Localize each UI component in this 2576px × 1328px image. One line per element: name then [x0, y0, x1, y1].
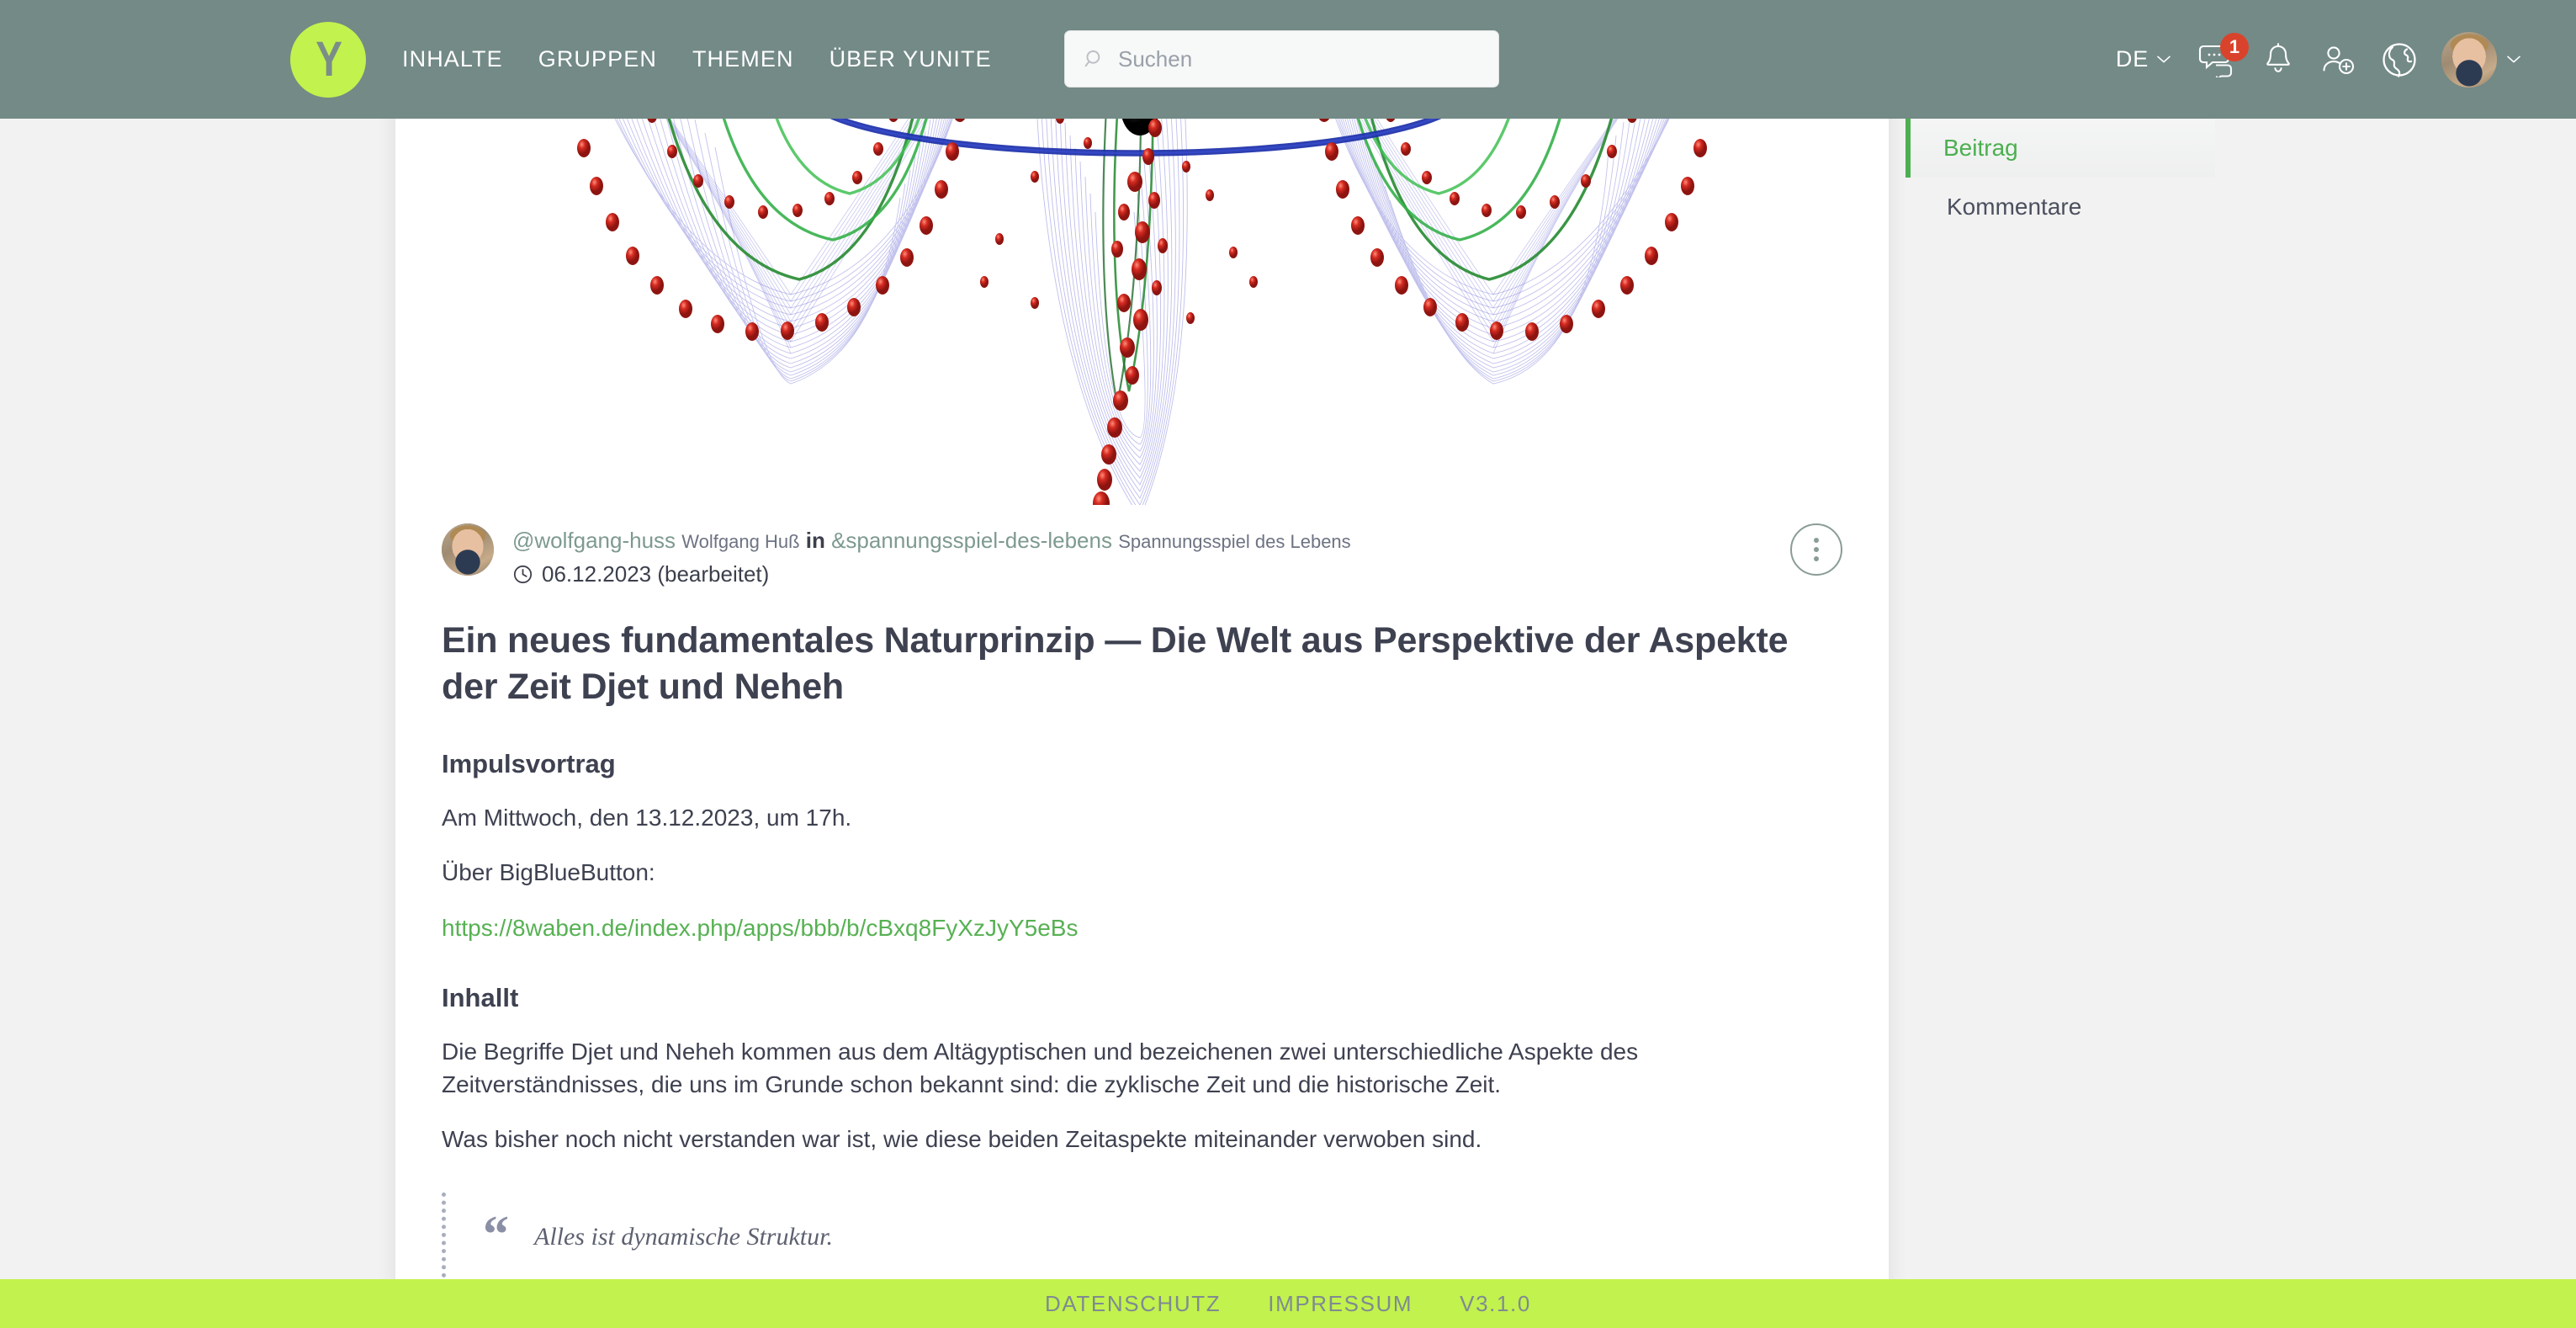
user-menu[interactable]: [2430, 32, 2526, 88]
footer-version: V3.1.0: [1460, 1291, 1531, 1317]
sidebar-item-label: Beitrag: [1943, 135, 2018, 162]
avatar-face: [2441, 32, 2497, 88]
sidebar-item-label: Kommentare: [1947, 194, 2081, 220]
language-label: DE: [2116, 46, 2149, 72]
post-date-row: 06.12.2023 (bearbeitet): [512, 561, 1351, 587]
logo-glyph: Y: [315, 35, 341, 84]
bigbluebutton-link[interactable]: https://8waben.de/index.php/apps/bbb/b/c…: [442, 915, 1078, 941]
kebab-dot: [1814, 556, 1819, 561]
nav-inhalte[interactable]: INHALTE: [402, 46, 521, 72]
footer-bar: DATENSCHUTZ IMPRESSUM V3.1.0: [0, 1279, 2576, 1328]
paragraph-inhalt-2: Was bisher noch nicht verstanden war ist…: [442, 1123, 1842, 1155]
globe-icon: [2379, 40, 2420, 80]
section-heading-inhalt: Inhallt: [442, 983, 1842, 1013]
footer-link-impressum[interactable]: IMPRESSUM: [1268, 1291, 1413, 1317]
author-handle-link[interactable]: @wolfgang-huss: [512, 528, 676, 553]
sidebar-item-beitrag[interactable]: Beitrag: [1905, 119, 2215, 178]
section-heading-impulsvortrag: Impulsvortrag: [442, 749, 1842, 779]
paragraph-meeting-link: https://8waben.de/index.php/apps/bbb/b/c…: [442, 911, 1842, 944]
avatar[interactable]: [2441, 32, 2497, 88]
attribution-in-word: in: [806, 528, 825, 553]
quote-mark-icon: “: [483, 1213, 509, 1257]
top-header-bar: Y INHALTE GRUPPEN THEMEN ÜBER YUNITE Suc…: [0, 0, 2576, 119]
post-options-kebab-menu-icon[interactable]: [1790, 523, 1842, 576]
kebab-dot: [1814, 547, 1819, 552]
post-sidebar-nav: Beitrag Kommentare: [1905, 119, 2215, 236]
chevron-down-icon: [2507, 56, 2520, 63]
nav-themen[interactable]: THEMEN: [675, 46, 812, 72]
search-input[interactable]: Suchen: [1064, 30, 1499, 88]
bell-icon: [2262, 42, 2294, 77]
search-placeholder: Suchen: [1118, 46, 1192, 72]
group-handle-link[interactable]: &spannungsspiel-des-lebens: [831, 528, 1112, 553]
author-avatar[interactable]: [442, 523, 494, 576]
nav-gruppen[interactable]: GRUPPEN: [521, 46, 675, 72]
globe-button[interactable]: [2369, 29, 2430, 90]
sidebar-item-kommentare[interactable]: Kommentare: [1905, 178, 2215, 236]
language-selector[interactable]: DE: [2099, 46, 2187, 72]
group-display-name: Spannungsspiel des Lebens: [1118, 531, 1350, 552]
clock-icon: [512, 564, 533, 585]
yunite-logo[interactable]: Y: [290, 22, 366, 98]
post-body: @wolfgang-huss Wolfgang Huß in &spannung…: [395, 505, 1889, 1278]
post-date: 06.12.2023 (bearbeitet): [542, 561, 769, 587]
chevron-down-icon: [2157, 56, 2171, 63]
quote-text: Alles ist dynamische Struktur.: [534, 1213, 833, 1255]
main-navigation: INHALTE GRUPPEN THEMEN ÜBER YUNITE: [402, 0, 1010, 119]
post-attribution: @wolfgang-huss Wolfgang Huß in &spannung…: [512, 526, 1351, 555]
nav-ueber-yunite[interactable]: ÜBER YUNITE: [812, 46, 1010, 72]
app-root: @wolfgang-huss Wolfgang Huß in &spannung…: [0, 0, 2576, 1328]
post-title: Ein neues fundamentales Naturprinzip — D…: [442, 618, 1842, 710]
blockquote: “ Alles ist dynamische Struktur.: [442, 1193, 1842, 1278]
kebab-dot: [1814, 538, 1819, 543]
add-contact-button[interactable]: [2308, 29, 2369, 90]
post-content-card: @wolfgang-huss Wolfgang Huß in &spannung…: [395, 0, 1889, 1296]
person-add-icon: [2320, 42, 2357, 77]
footer-link-datenschutz[interactable]: DATENSCHUTZ: [1045, 1291, 1221, 1317]
search-icon: [1084, 48, 1105, 70]
messages-badge-count: 1: [2220, 33, 2249, 61]
notifications-button[interactable]: [2248, 29, 2308, 90]
avatar-face: [442, 523, 494, 576]
paragraph-inhalt-1: Die Begriffe Djet und Neheh kommen aus d…: [442, 1035, 1842, 1101]
header-actions: DE 1: [2099, 0, 2526, 119]
paragraph-event-time: Am Mittwoch, den 13.12.2023, um 17h.: [442, 801, 1842, 834]
paragraph-via-bigbluebutton: Über BigBlueButton:: [442, 856, 1842, 889]
author-display-name: Wolfgang Huß: [681, 531, 799, 552]
messages-button[interactable]: 1: [2187, 29, 2248, 90]
post-meta-row: @wolfgang-huss Wolfgang Huß in &spannung…: [442, 505, 1842, 587]
post-meta-text: @wolfgang-huss Wolfgang Huß in &spannung…: [512, 523, 1351, 587]
